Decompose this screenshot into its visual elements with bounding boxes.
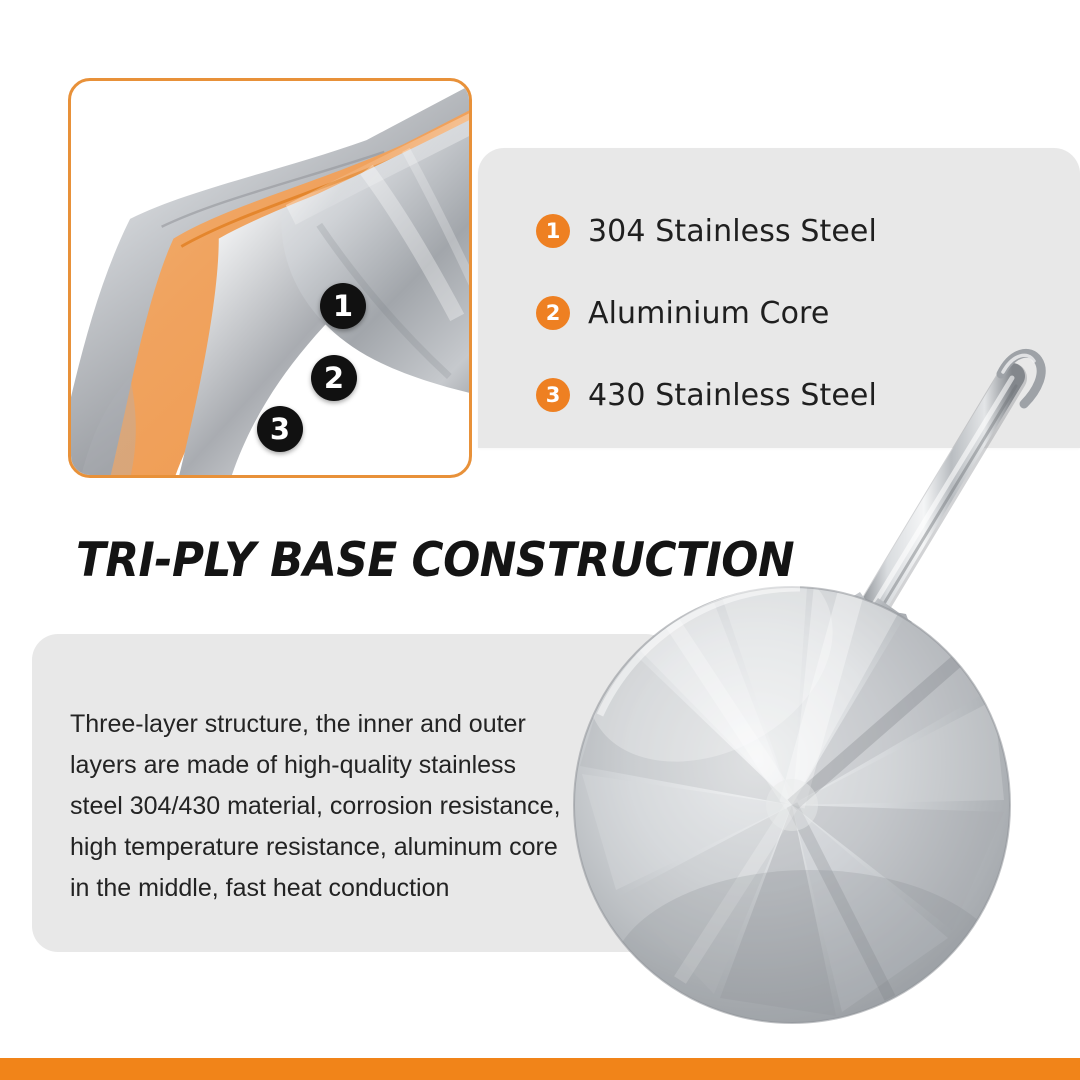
description-text: Three-layer structure, the inner and out… [70, 704, 570, 909]
product-image-frying-pan [560, 330, 1080, 1040]
legend-item-304: 1 304 Stainless Steel [536, 190, 1006, 272]
bottom-accent-bar [0, 1058, 1080, 1080]
legend-number-badge-2: 2 [536, 296, 570, 330]
diagram-callout-3: 3 [257, 406, 303, 452]
diagram-callout-2: 2 [311, 355, 357, 401]
infographic-canvas: 1 2 3 1 304 Stainless Steel 2 Aluminium … [0, 0, 1080, 1080]
pan-base [560, 518, 1010, 1040]
legend-label-2: Aluminium Core [588, 296, 829, 331]
legend-number-badge-1: 1 [536, 214, 570, 248]
legend-label-1: 304 Stainless Steel [588, 214, 877, 249]
cutaway-diagram-box: 1 2 3 [68, 78, 472, 478]
pan-handle [860, 353, 1041, 630]
diagram-callout-1: 1 [320, 283, 366, 329]
